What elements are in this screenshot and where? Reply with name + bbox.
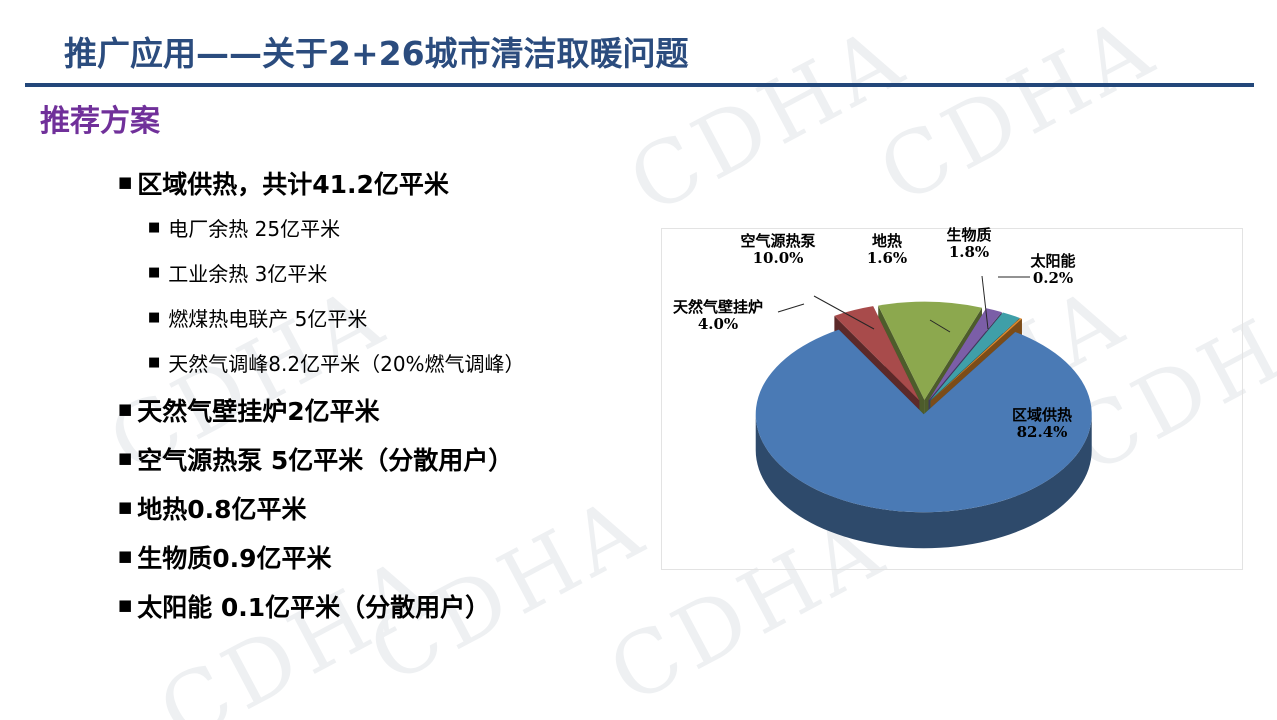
list-item: ■ 地热0.8亿平米 [118, 483, 658, 532]
list-item-label: 工业余热 3亿平米 [168, 258, 327, 287]
list-item: ■ 燃煤热电联产 5亿平米 [118, 295, 658, 340]
square-bullet-icon: ■ [118, 598, 132, 613]
list-item-label: 地热0.8亿平米 [137, 490, 306, 526]
pie-label-heatpump-value: 10.0% [710, 250, 846, 267]
sub-bullet-group: ■ 电厂余热 25亿平米 ■ 工业余热 3亿平米 ■ 燃煤热电联产 5亿平米 ■… [118, 205, 658, 385]
pie-label-district-heating: 区域供热 82.4% [984, 407, 1100, 442]
list-item-label: 生物质0.9亿平米 [137, 539, 331, 575]
pie-label-geothermal: 地热 1.6% [852, 233, 922, 268]
square-bullet-icon: ■ [148, 221, 160, 234]
page-title: 推广应用——关于2+26城市清洁取暖问题 [64, 27, 689, 75]
pie-label-biomass-value: 1.8% [926, 244, 1012, 261]
list-item: ■ 空气源热泵 5亿平米（分散用户） [118, 434, 658, 483]
list-item-label: 太阳能 0.1亿平米（分散用户） [137, 588, 490, 624]
square-bullet-icon: ■ [148, 356, 160, 369]
list-item-label: 电厂余热 25亿平米 [168, 213, 340, 242]
list-item-label: 燃煤热电联产 5亿平米 [168, 303, 367, 332]
list-item: ■ 区域供热，共计41.2亿平米 [118, 158, 658, 207]
watermark-text: CDHA [864, 0, 1172, 224]
pie-label-heatpump-name: 空气源热泵 [740, 232, 815, 250]
square-bullet-icon: ■ [118, 500, 132, 515]
list-item: ■ 生物质0.9亿平米 [118, 532, 658, 581]
pie-label-geothermal-value: 1.6% [852, 250, 922, 267]
square-bullet-icon: ■ [118, 402, 132, 417]
list-item: ■ 电厂余热 25亿平米 [118, 205, 658, 250]
section-subtitle: 推荐方案 [40, 96, 160, 140]
square-bullet-icon: ■ [118, 451, 132, 466]
list-item: ■ 天然气壁挂炉2亿平米 [118, 385, 658, 434]
pie-label-district-heating-value: 82.4% [984, 424, 1100, 441]
square-bullet-icon: ■ [118, 549, 132, 564]
title-divider [25, 83, 1254, 87]
square-bullet-icon: ■ [118, 175, 132, 190]
list-item: ■ 太阳能 0.1亿平米（分散用户） [118, 581, 658, 630]
list-item: ■ 工业余热 3亿平米 [118, 250, 658, 295]
bullet-list: ■ 区域供热，共计41.2亿平米 ■ 电厂余热 25亿平米 ■ 工业余热 3亿平… [118, 158, 658, 630]
pie-label-solar-value: 0.2% [1010, 270, 1096, 287]
pie-label-geothermal-name: 地热 [872, 232, 902, 250]
square-bullet-icon: ■ [148, 311, 160, 324]
list-item: ■ 天然气调峰8.2亿平米（20%燃气调峰） [118, 340, 658, 385]
list-item-label: 区域供热，共计41.2亿平米 [137, 165, 449, 201]
leader-line-gasboiler [778, 304, 804, 312]
pie-label-gasboiler-value: 4.0% [672, 316, 764, 333]
pie-label-district-heating-name: 区域供热 [1012, 406, 1072, 424]
pie-label-gasboiler: 天然气壁挂炉 4.0% [672, 299, 764, 334]
pie-label-solar-name: 太阳能 [1030, 252, 1075, 270]
list-item-label: 空气源热泵 5亿平米（分散用户） [137, 441, 513, 477]
list-item-label: 天然气调峰8.2亿平米（20%燃气调峰） [168, 348, 524, 377]
list-item-label: 天然气壁挂炉2亿平米 [137, 392, 379, 428]
pie-chart-canvas [662, 229, 1244, 571]
pie-label-solar: 太阳能 0.2% [1010, 253, 1096, 288]
pie-label-gasboiler-name: 天然气壁挂炉 [673, 298, 763, 316]
pie-label-biomass: 生物质 1.8% [926, 227, 1012, 262]
pie-label-heatpump: 空气源热泵 10.0% [710, 233, 846, 268]
square-bullet-icon: ■ [148, 266, 160, 279]
pie-label-biomass-name: 生物质 [946, 226, 991, 244]
pie-chart-container: 空气源热泵 10.0% 地热 1.6% 生物质 1.8% 太阳能 0.2% 天然… [661, 228, 1243, 570]
